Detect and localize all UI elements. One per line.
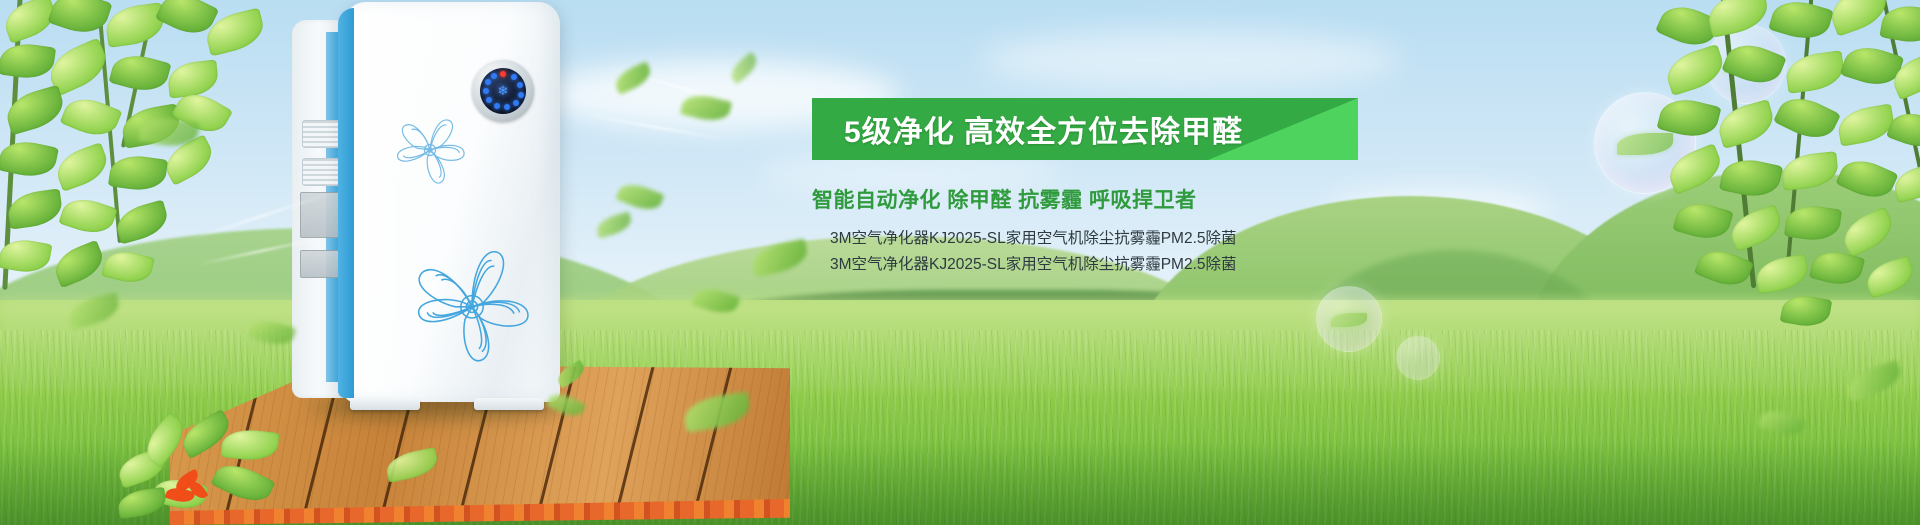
- snowflake-icon: ❄: [498, 83, 509, 99]
- headline-text: 5级净化 高效全方位去除甲醛: [812, 107, 1243, 151]
- leaf-icon: [1724, 56, 1768, 73]
- headline-banner: 5级净化 高效全方位去除甲醛: [812, 98, 1358, 160]
- copy-block: 5级净化 高效全方位去除甲醛 智能自动净化 除甲醛 抗雾霾 呼吸捍卫者 3M空气…: [812, 98, 1432, 278]
- bubble-icon: [1316, 286, 1382, 352]
- product-spec-label: [300, 250, 342, 278]
- led-indicator: [517, 82, 523, 88]
- leaf-icon: [615, 179, 664, 216]
- product-foot: [350, 398, 420, 410]
- power-led-indicator: [500, 71, 506, 77]
- led-indicator: [486, 97, 492, 103]
- subheadline-text: 智能自动净化 除甲醛 抗雾霾 呼吸捍卫者: [812, 184, 1432, 214]
- product-spec-label: [300, 192, 342, 238]
- leaf-icon: [594, 211, 634, 238]
- spec-line: 3M空气净化器KJ2025-SL家用空气机除尘抗雾霾PM2.5除菌: [830, 226, 1432, 252]
- led-indicator: [504, 104, 510, 110]
- product-gloss-highlight: [352, 12, 410, 392]
- led-indicator: [518, 92, 524, 98]
- bubble-icon: [1396, 336, 1440, 380]
- product-foot: [474, 398, 544, 410]
- air-purifier-product: ❄: [292, 2, 560, 412]
- product-hero-banner: ❄: [0, 0, 1920, 525]
- led-indicator: [511, 74, 517, 80]
- cloud-icon: [980, 30, 1400, 90]
- led-indicator: [483, 88, 489, 94]
- control-panel-dial[interactable]: ❄: [472, 60, 534, 122]
- vent-grille-icon: [302, 120, 340, 148]
- leaf-icon: [1331, 313, 1367, 327]
- product-front-blue-trim: [338, 8, 354, 398]
- spec-line: 3M空气净化器KJ2025-SL家用空气机除尘抗雾霾PM2.5除菌: [830, 252, 1432, 278]
- leaf-icon: [1617, 133, 1673, 155]
- vent-grille-icon: [302, 158, 340, 186]
- spec-line-list: 3M空气净化器KJ2025-SL家用空气机除尘抗雾霾PM2.5除菌 3M空气净化…: [812, 226, 1432, 278]
- led-indicator: [494, 103, 500, 109]
- led-indicator: [513, 100, 519, 106]
- bubble-icon: [1594, 92, 1696, 194]
- led-indicator: [491, 73, 497, 79]
- leaf-icon: [138, 113, 200, 151]
- bubble-icon: [1706, 24, 1786, 104]
- led-indicator: [485, 79, 491, 85]
- dial-face: ❄: [480, 68, 526, 114]
